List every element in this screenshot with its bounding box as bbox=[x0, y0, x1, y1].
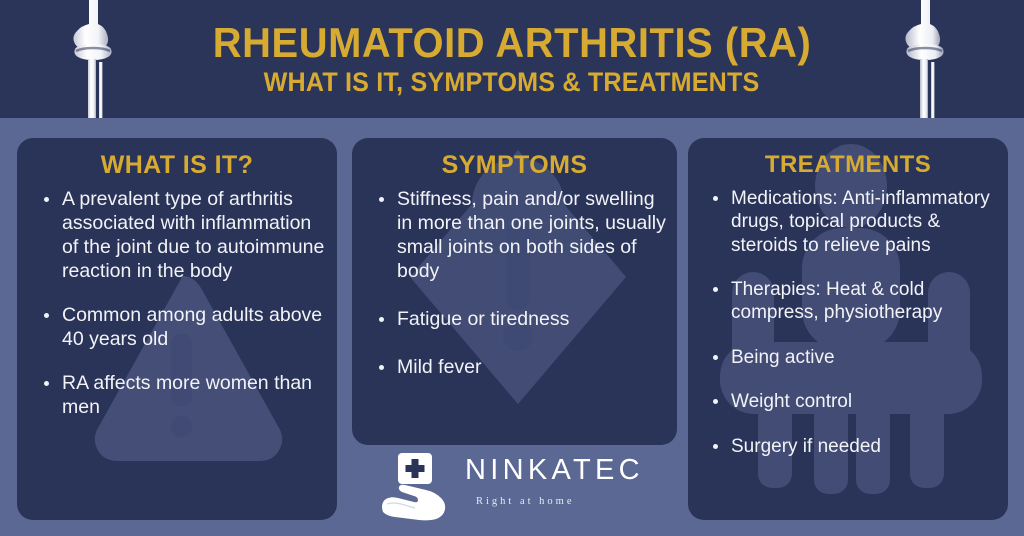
list-item: A prevalent type of arthritis associated… bbox=[43, 188, 329, 284]
list-item: Therapies: Heat & cold compress, physiot… bbox=[712, 278, 1000, 325]
bullet-list: A prevalent type of arthritis associated… bbox=[17, 188, 337, 420]
card-treatments: TREATMENTS Medications: Anti-inflammator… bbox=[688, 138, 1008, 520]
list-item-text: Surgery if needed bbox=[731, 436, 881, 457]
list-item: Being active bbox=[712, 346, 1000, 369]
bullet-dot bbox=[379, 317, 384, 322]
header-band: RHEUMATOID ARTHRITIS (RA) WHAT IS IT, SY… bbox=[0, 0, 1024, 118]
bullet-list: Stiffness, pain and/or swelling in more … bbox=[352, 188, 677, 380]
card-heading: WHAT IS IT? bbox=[17, 138, 337, 180]
bullet-dot bbox=[44, 313, 49, 318]
list-item: Mild fever bbox=[378, 356, 667, 380]
card-symptoms: SYMPTOMS Stiffness, pain and/or swelling… bbox=[352, 138, 677, 445]
knee-joint-bone-icon bbox=[890, 0, 960, 118]
bullet-dot bbox=[379, 365, 384, 370]
bullet-dot bbox=[713, 355, 718, 360]
list-item-text: Therapies: Heat & cold compress, physiot… bbox=[731, 279, 942, 323]
page-subtitle: WHAT IS IT, SYMPTOMS & TREATMENTS bbox=[264, 68, 760, 97]
list-item-text: RA affects more women than men bbox=[62, 372, 312, 418]
list-item-text: Being active bbox=[731, 347, 835, 368]
bullet-dot bbox=[379, 197, 384, 202]
card-heading: SYMPTOMS bbox=[352, 138, 677, 180]
list-item-text: Mild fever bbox=[397, 356, 482, 378]
list-item-text: Fatigue or tiredness bbox=[397, 308, 569, 330]
bullet-dot bbox=[713, 444, 718, 449]
list-item-text: A prevalent type of arthritis associated… bbox=[62, 188, 324, 282]
list-item: Medications: Anti-inflammatory drugs, to… bbox=[712, 187, 1000, 257]
list-item: RA affects more women than men bbox=[43, 372, 329, 420]
infographic-page: RHEUMATOID ARTHRITIS (RA) WHAT IS IT, SY… bbox=[0, 0, 1024, 536]
bullet-dot bbox=[44, 197, 49, 202]
hand-holding-medical-cross-icon bbox=[377, 452, 455, 522]
header-text-block: RHEUMATOID ARTHRITIS (RA) WHAT IS IT, SY… bbox=[150, 0, 874, 118]
brand-name: NINKATEC bbox=[465, 456, 653, 485]
list-item: Surgery if needed bbox=[712, 435, 1000, 458]
list-item: Fatigue or tiredness bbox=[378, 308, 667, 332]
bullet-dot bbox=[713, 287, 718, 292]
card-heading: TREATMENTS bbox=[688, 138, 1008, 179]
bullet-list: Medications: Anti-inflammatory drugs, to… bbox=[688, 187, 1008, 458]
list-item-text: Stiffness, pain and/or swelling in more … bbox=[397, 188, 666, 282]
logo-wordmark: NINKATEC Right at home bbox=[465, 456, 653, 507]
bullet-dot bbox=[44, 381, 49, 386]
list-item-text: Common among adults above 40 years old bbox=[62, 304, 322, 350]
card-what-is-it: WHAT IS IT? A prevalent type of arthriti… bbox=[17, 138, 337, 520]
list-item: Common among adults above 40 years old bbox=[43, 304, 329, 352]
knee-joint-bone-icon bbox=[58, 0, 128, 118]
ninkatec-logo: NINKATEC Right at home bbox=[377, 452, 653, 524]
bullet-dot bbox=[713, 399, 718, 404]
list-item: Stiffness, pain and/or swelling in more … bbox=[378, 188, 667, 284]
list-item-text: Weight control bbox=[731, 391, 852, 412]
list-item: Weight control bbox=[712, 390, 1000, 413]
list-item-text: Medications: Anti-inflammatory drugs, to… bbox=[731, 188, 990, 256]
bullet-dot bbox=[713, 196, 718, 201]
page-title: RHEUMATOID ARTHRITIS (RA) bbox=[213, 21, 812, 65]
brand-tagline: Right at home bbox=[476, 496, 653, 507]
